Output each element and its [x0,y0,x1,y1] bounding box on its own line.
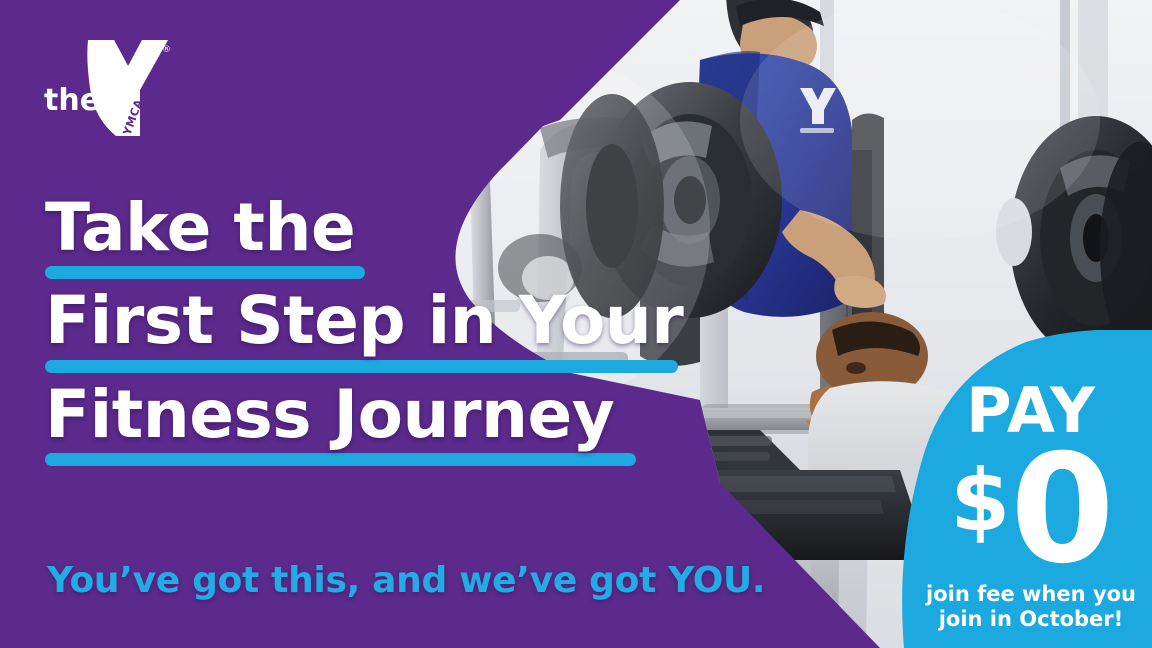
badge-amount: 0 [1010,444,1111,576]
headline-underline-3 [45,453,636,466]
headline-underline-2 [45,360,678,373]
headline-line-1: Take the [45,196,745,279]
badge-currency-symbol: $ [950,458,1010,544]
badge-fine-print: join fee when you join in October! [926,582,1136,632]
logo-registered-mark: ® [162,45,171,55]
headline-line-3-text: Fitness Journey [45,383,745,446]
ymca-logo-mark: the YMCA ® [42,32,172,144]
badge-fine-print-line-2: join in October! [939,607,1124,631]
promo-banner: the YMCA ® Take the First Step in Your F… [0,0,1152,648]
headline-line-2-text: First Step in Your [45,289,745,352]
pay-zero-badge: PAY $ 0 join fee when you join in Octobe… [896,330,1152,648]
headline-block: Take the First Step in Your Fitness Jour… [45,196,745,476]
headline-underline-1 [45,266,365,279]
headline-line-1-text: Take the [45,196,745,259]
tagline: You’ve got this, and we’ve got YOU. [47,560,765,601]
badge-fine-print-line-1: join fee when you [926,582,1136,606]
headline-line-2: First Step in Your [45,289,745,372]
badge-price: $ 0 [950,444,1111,576]
ymca-logo: the YMCA ® [42,32,172,144]
headline-line-3: Fitness Journey [45,383,745,466]
badge-content: PAY $ 0 join fee when you join in Octobe… [896,330,1152,648]
